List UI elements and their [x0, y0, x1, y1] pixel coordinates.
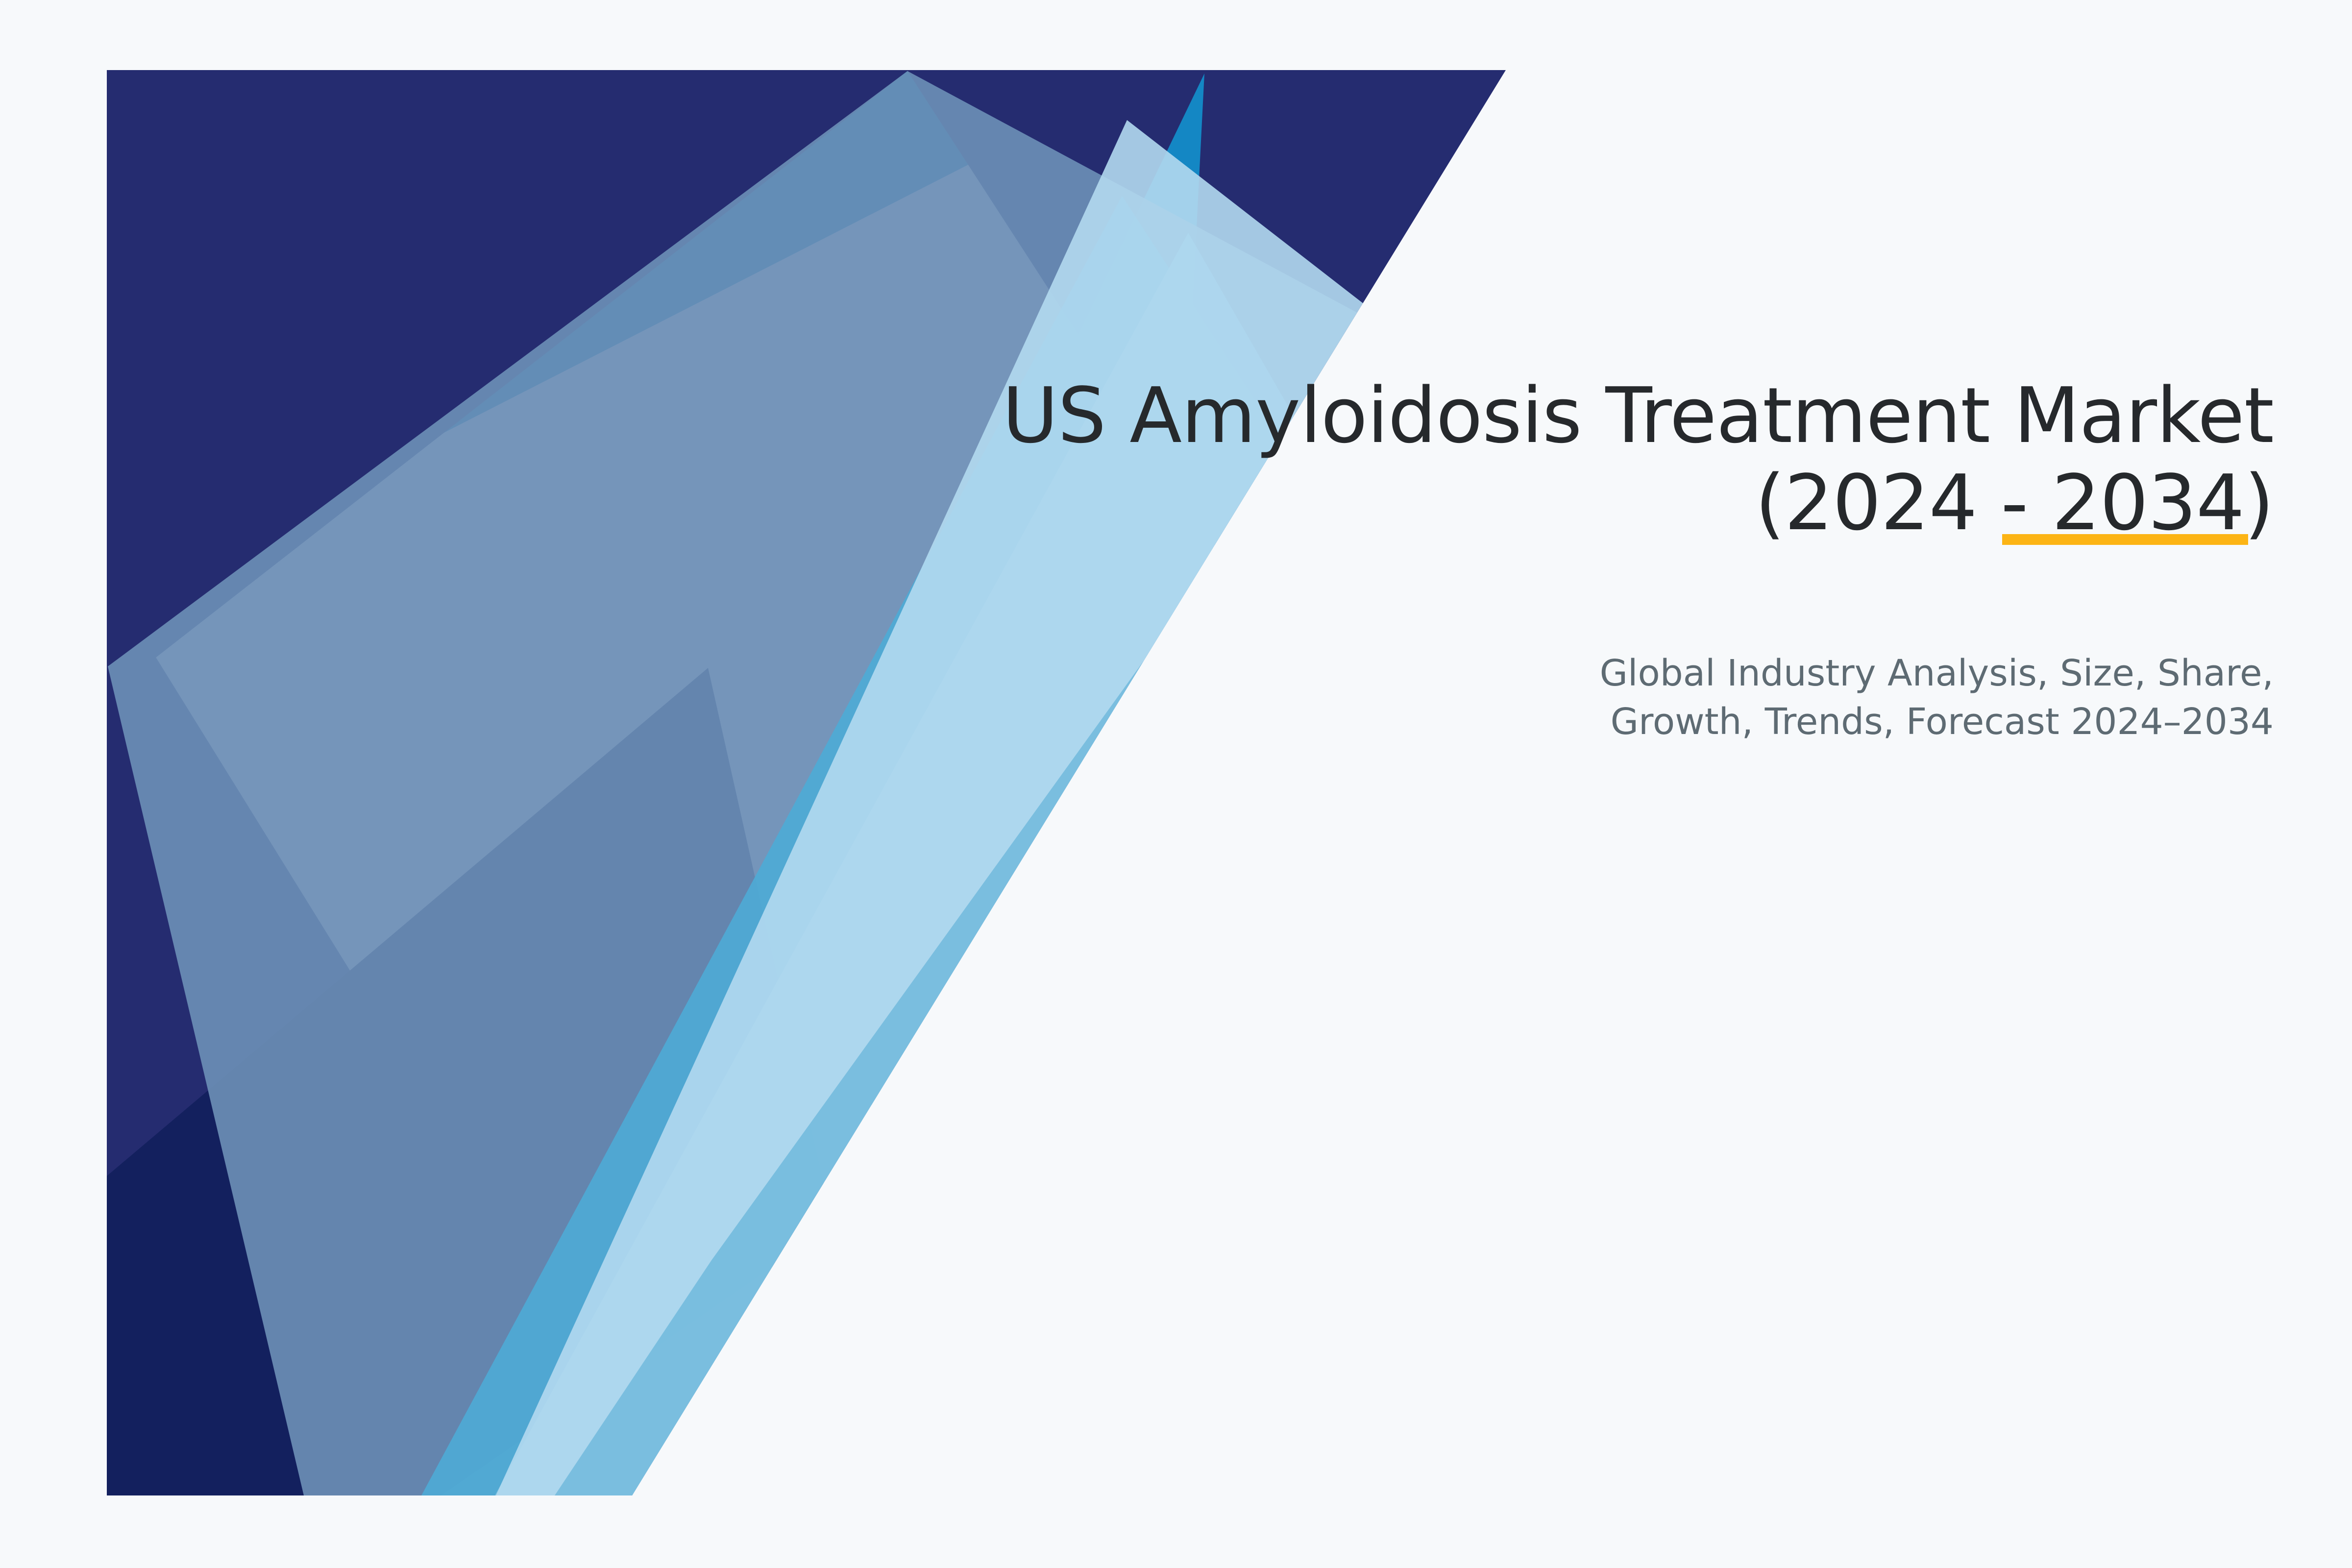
- title-accent-bar: [2002, 534, 2248, 545]
- page-title: US Amyloidosis Treatment Market (2024 - …: [931, 372, 2274, 547]
- title-block: US Amyloidosis Treatment Market (2024 - …: [931, 372, 2274, 547]
- cover-page: US Amyloidosis Treatment Market (2024 - …: [0, 0, 2352, 1568]
- subtitle-block: Global Industry Analysis, Size, Share, G…: [1441, 649, 2274, 746]
- artwork-shape-group: [107, 70, 1506, 1495]
- cover-artwork: [0, 0, 2352, 1568]
- page-subtitle: Global Industry Analysis, Size, Share, G…: [1441, 649, 2274, 746]
